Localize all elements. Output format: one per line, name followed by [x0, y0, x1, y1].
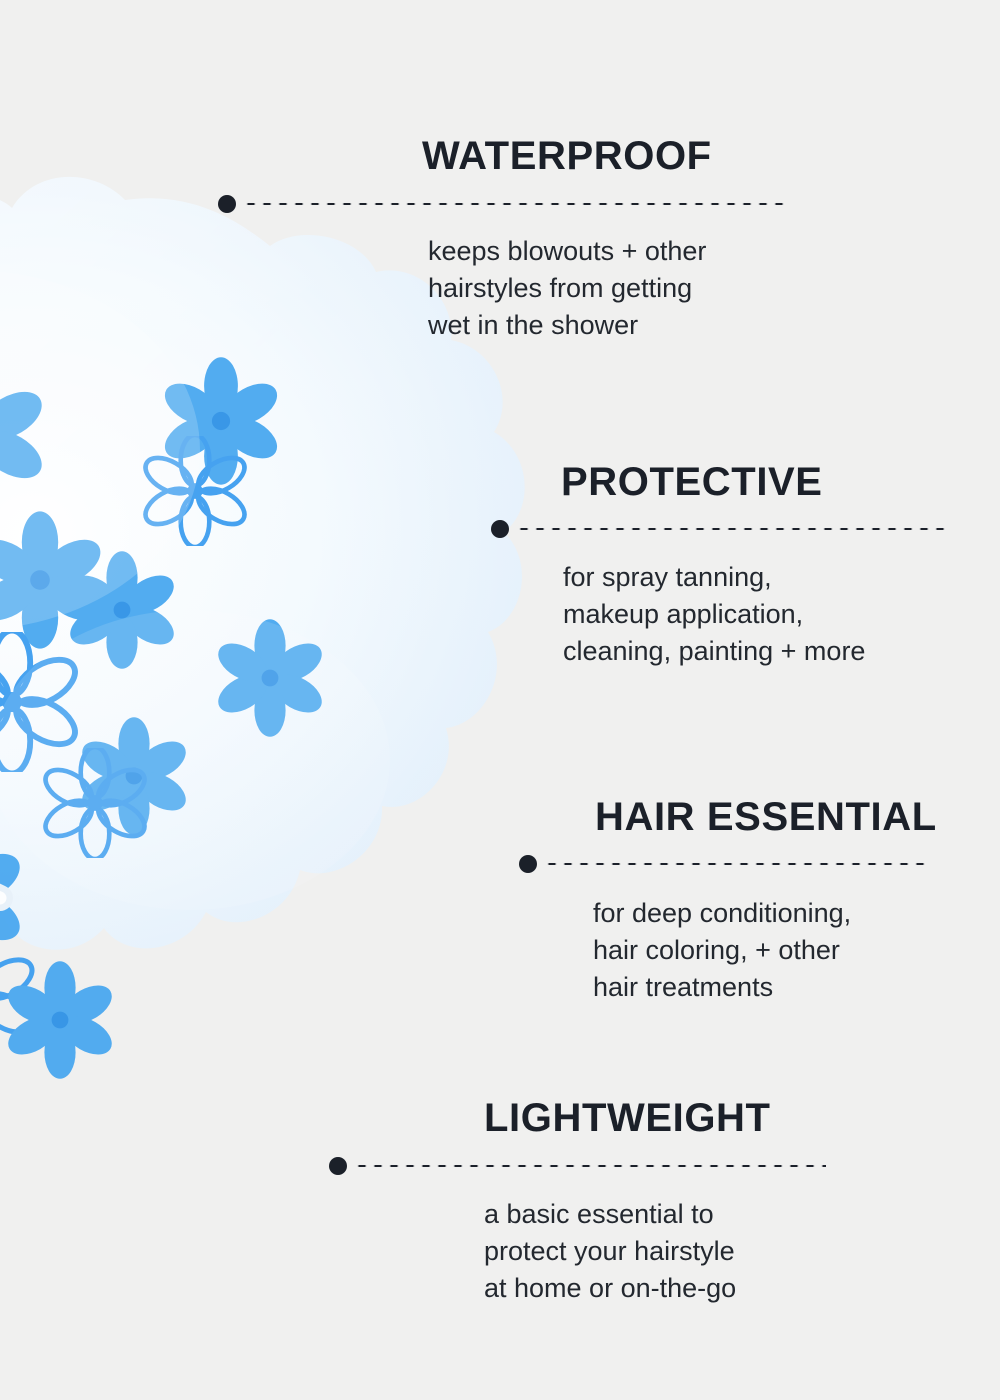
feature-title-protective: PROTECTIVE — [561, 462, 949, 502]
feature-rule-protective — [491, 519, 949, 539]
bullet-dot-icon — [519, 855, 537, 873]
feature-protective: PROTECTIVE for spray tanning, makeup app… — [491, 462, 949, 670]
feature-title-hair-essential: HAIR ESSENTIAL — [595, 797, 931, 837]
infographic-page: WATERPROOF keeps blowouts + other hairst… — [0, 0, 1000, 1400]
feature-rule-hair-essential — [519, 854, 931, 874]
feature-waterproof: WATERPROOF keeps blowouts + other hairst… — [218, 136, 784, 344]
feature-title-lightweight: LIGHTWEIGHT — [484, 1098, 826, 1138]
bullet-dot-icon — [491, 520, 509, 538]
feature-title-waterproof: WATERPROOF — [422, 136, 784, 176]
feature-rule-lightweight — [329, 1156, 826, 1176]
dotted-line — [516, 527, 949, 531]
feature-body-lightweight: a basic essential to protect your hairst… — [484, 1196, 826, 1307]
bullet-dot-icon — [329, 1157, 347, 1175]
feature-rule-waterproof — [218, 194, 784, 214]
dotted-line — [243, 202, 784, 206]
dotted-line — [354, 1164, 826, 1168]
feature-body-protective: for spray tanning, makeup application, c… — [563, 559, 949, 670]
feature-lightweight: LIGHTWEIGHT a basic essential to protect… — [329, 1098, 826, 1307]
feature-hair-essential: HAIR ESSENTIAL for deep conditioning, ha… — [519, 797, 931, 1006]
dotted-line — [544, 862, 931, 866]
feature-body-waterproof: keeps blowouts + other hairstyles from g… — [428, 233, 784, 344]
feature-body-hair-essential: for deep conditioning, hair coloring, + … — [593, 895, 931, 1006]
bullet-dot-icon — [218, 195, 236, 213]
